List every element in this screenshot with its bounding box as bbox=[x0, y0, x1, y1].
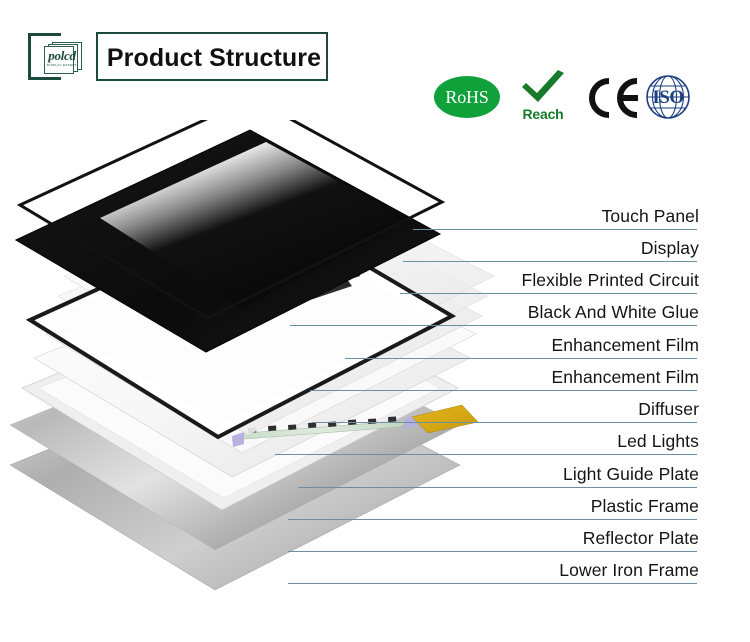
leader-line bbox=[400, 293, 697, 294]
leader-line bbox=[275, 454, 697, 455]
label-row-display: Display bbox=[0, 236, 750, 262]
label-row-plastic-frame: Plastic Frame bbox=[0, 494, 750, 520]
layer-label: Flexible Printed Circuit bbox=[522, 270, 699, 291]
label-row-light-guide-plate: Light Guide Plate bbox=[0, 462, 750, 488]
layer-label: Black And White Glue bbox=[528, 302, 699, 323]
layer-label: Lower Iron Frame bbox=[559, 560, 699, 581]
layer-label: Display bbox=[641, 238, 699, 259]
leader-line bbox=[345, 358, 697, 359]
layer-label: Touch Panel bbox=[602, 206, 699, 227]
label-row-flexible-printed-circuit: Flexible Printed Circuit bbox=[0, 268, 750, 294]
label-row-enhancement-film-2: Enhancement Film bbox=[0, 365, 750, 391]
product-structure-diagram: polcd DISPLAY EXPERT Product Structure R… bbox=[0, 0, 750, 642]
leader-line bbox=[403, 261, 697, 262]
leader-line bbox=[290, 325, 697, 326]
layer-label: Plastic Frame bbox=[591, 496, 699, 517]
leader-line bbox=[413, 229, 697, 230]
layer-label: Reflector Plate bbox=[583, 528, 699, 549]
label-row-enhancement-film-1: Enhancement Film bbox=[0, 333, 750, 359]
leader-line bbox=[288, 551, 697, 552]
layer-label-list: Touch Panel Display Flexible Printed Cir… bbox=[0, 0, 750, 642]
leader-line bbox=[310, 390, 697, 391]
layer-label: Diffuser bbox=[638, 399, 699, 420]
leader-line bbox=[288, 583, 697, 584]
label-row-diffuser: Diffuser bbox=[0, 397, 750, 423]
leader-line bbox=[312, 422, 697, 423]
layer-label: Enhancement Film bbox=[552, 335, 700, 356]
leader-line bbox=[298, 487, 697, 488]
label-row-touch-panel: Touch Panel bbox=[0, 204, 750, 230]
leader-line bbox=[288, 519, 697, 520]
label-row-reflector-plate: Reflector Plate bbox=[0, 526, 750, 552]
label-row-lower-iron-frame: Lower Iron Frame bbox=[0, 558, 750, 584]
layer-label: Light Guide Plate bbox=[563, 464, 699, 485]
label-row-led-lights: Led Lights bbox=[0, 429, 750, 455]
label-row-black-and-white-glue: Black And White Glue bbox=[0, 300, 750, 326]
layer-label: Enhancement Film bbox=[552, 367, 700, 388]
layer-label: Led Lights bbox=[617, 431, 699, 452]
